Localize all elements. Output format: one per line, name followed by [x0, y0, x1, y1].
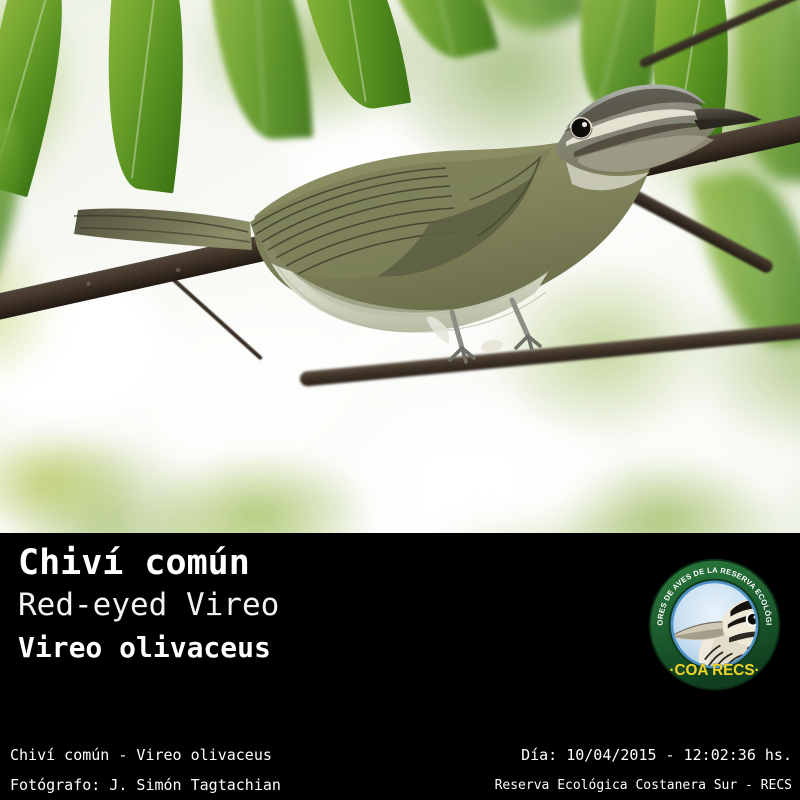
footer-location: Reserva Ecológica Costanera Sur - RECS: [495, 779, 792, 792]
caption-panel: Chiví común Red-eyed Vireo Vireo olivace…: [0, 533, 800, 800]
species-scientific-name: Vireo olivaceus: [18, 634, 271, 662]
photo-caption-card: Chiví común Red-eyed Vireo Vireo olivace…: [0, 0, 800, 800]
species-common-name: Chiví común: [18, 546, 250, 581]
footer-date-time: Día: 10/04/2015 - 12:02:36 hs.: [521, 748, 792, 763]
logo-acronym: ·COA RECS·: [669, 662, 759, 679]
species-english-name: Red-eyed Vireo: [18, 590, 279, 621]
bird-photograph: [0, 0, 800, 533]
footer-photographer: Fotógrafo: J. Simón Tagtachian: [10, 778, 281, 793]
coa-recs-logo[interactable]: CLUB DE OBSERVADORES DE AVES DE LA RESER…: [648, 558, 781, 691]
footer-species-line: Chiví común - Vireo olivaceus: [10, 748, 272, 763]
vireo-bird-illustration: [0, 0, 800, 533]
